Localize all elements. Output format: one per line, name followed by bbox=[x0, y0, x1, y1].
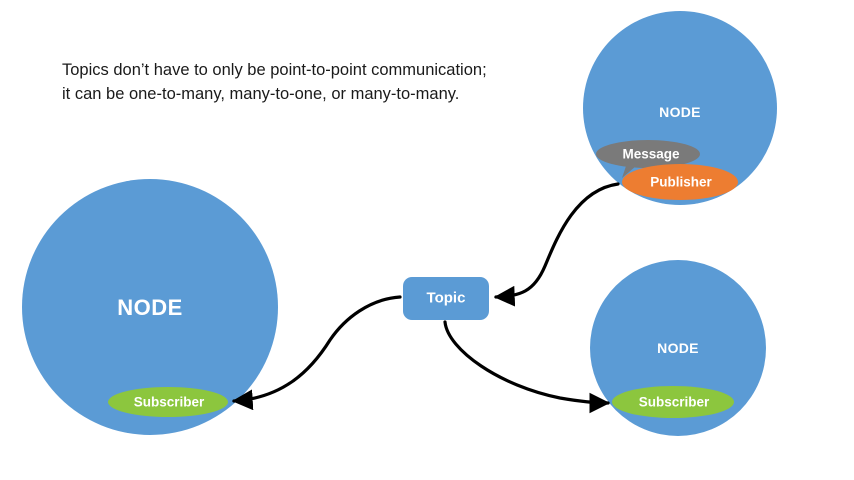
arrow-topic-to-subscriber-right bbox=[445, 322, 608, 403]
subscriber-pill-right-shape[interactable] bbox=[612, 386, 734, 418]
caption-text: Topics don’t have to only be point-to-po… bbox=[62, 58, 492, 107]
slide-canvas: Topics don’t have to only be point-to-po… bbox=[0, 0, 854, 480]
message-callout-ellipse[interactable] bbox=[596, 140, 700, 168]
topic-box-shape[interactable] bbox=[403, 277, 489, 320]
publisher-pill-shape[interactable] bbox=[622, 164, 738, 200]
subscriber-pill-left-shape[interactable] bbox=[108, 387, 228, 417]
arrow-publisher-to-topic bbox=[496, 184, 618, 297]
